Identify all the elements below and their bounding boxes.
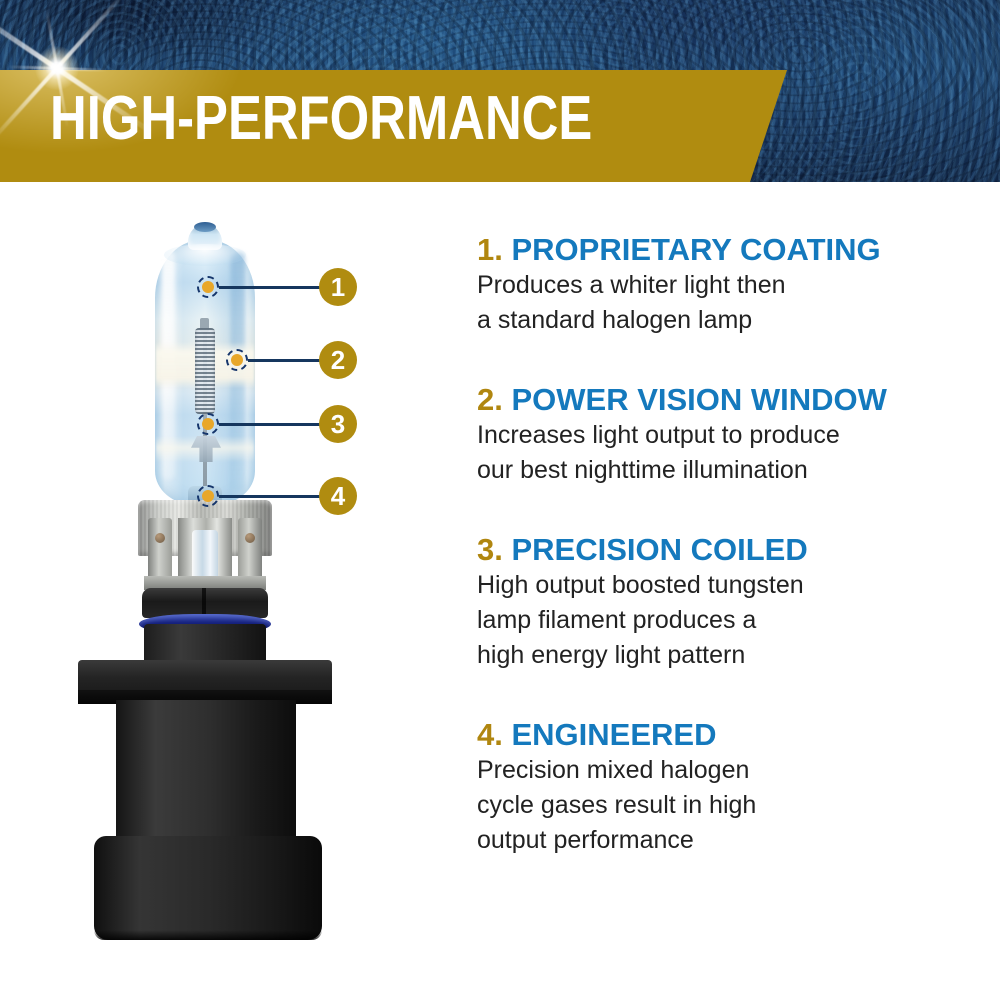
feature-number-4: 4. — [477, 717, 503, 752]
feature-title-4: ENGINEERED — [511, 717, 716, 752]
feature-body-4-line-2: cycle gases result in high — [477, 788, 977, 823]
feature-title-1: PROPRIETARY COATING — [511, 232, 880, 267]
feature-body-4-line-3: output performance — [477, 823, 977, 858]
feature-body-3-line-3: high energy light pattern — [477, 638, 977, 673]
feature-body-4: Precision mixed halogen cycle gases resu… — [477, 753, 977, 858]
feature-number-3: 3. — [477, 532, 503, 567]
feature-item-1: 1. PROPRIETARY COATING Produces a whiter… — [477, 232, 977, 338]
connector-main-body — [116, 700, 296, 840]
page-title: HIGH-PERFORMANCE — [50, 88, 592, 150]
feature-body-1-line-1: Produces a whiter light then — [477, 268, 977, 303]
bulb-tip-seal — [194, 222, 216, 232]
connector-base — [94, 836, 322, 940]
tungsten-filament-coil — [195, 328, 215, 414]
rivet-right — [245, 533, 255, 543]
feature-body-3: High output boosted tungsten lamp filame… — [477, 568, 977, 673]
product-feature-infographic: HIGH-PERFORMANCE — [0, 0, 1000, 1000]
feature-body-4-line-1: Precision mixed halogen — [477, 753, 977, 788]
feature-item-2: 2. POWER VISION WINDOW Increases light o… — [477, 382, 977, 488]
rivet-left — [155, 533, 165, 543]
feature-heading-2: 2. POWER VISION WINDOW — [477, 382, 977, 418]
feature-body-2-line-2: our best nighttime illumination — [477, 453, 977, 488]
product-image — [60, 200, 400, 960]
feature-heading-3: 3. PRECISION COILED — [477, 532, 977, 568]
feature-item-3: 3. PRECISION COILED High output boosted … — [477, 532, 977, 673]
metal-tab-left — [148, 518, 172, 584]
feature-body-2: Increases light output to produce our be… — [477, 418, 977, 488]
connector-flange — [78, 660, 332, 704]
bulb-shoulder-highlight — [164, 244, 246, 266]
header-banner: HIGH-PERFORMANCE — [0, 0, 1000, 182]
feature-heading-1: 1. PROPRIETARY COATING — [477, 232, 977, 268]
metal-tab-right — [238, 518, 262, 584]
feature-heading-4: 4. ENGINEERED — [477, 717, 977, 753]
feature-title-2: POWER VISION WINDOW — [511, 382, 886, 417]
feature-body-1: Produces a whiter light then a standard … — [477, 268, 977, 338]
feature-body-3-line-1: High output boosted tungsten — [477, 568, 977, 603]
feature-list: 1. PROPRIETARY COATING Produces a whiter… — [477, 232, 977, 884]
feature-item-4: 4. ENGINEERED Precision mixed halogen cy… — [477, 717, 977, 858]
feature-title-3: PRECISION COILED — [511, 532, 807, 567]
feature-body-1-line-2: a standard halogen lamp — [477, 303, 977, 338]
feature-body-3-line-2: lamp filament produces a — [477, 603, 977, 638]
feature-body-2-line-1: Increases light output to produce — [477, 418, 977, 453]
feature-number-2: 2. — [477, 382, 503, 417]
feature-number-1: 1. — [477, 232, 503, 267]
